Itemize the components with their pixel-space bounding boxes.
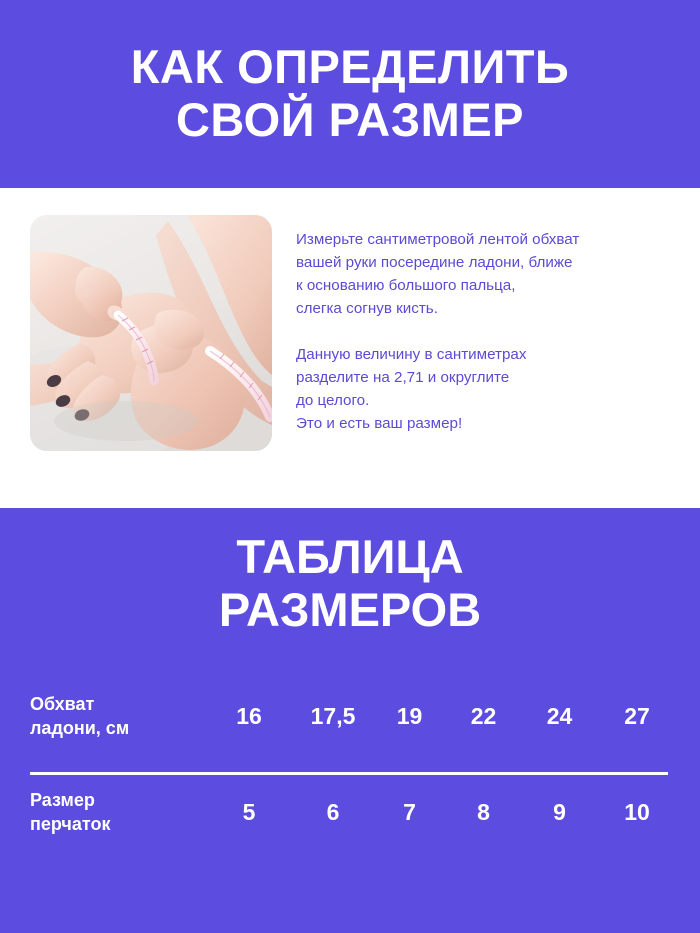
size-table-title: ТАБЛИЦА РАЗМЕРОВ: [0, 531, 700, 636]
cell-palm-0: 16: [205, 703, 293, 730]
cell-palm-5: 27: [598, 703, 676, 730]
table-row: Размер перчаток 5 6 7 8 9 10: [0, 764, 700, 860]
size-guide-page: КАК ОПРЕДЕЛИТЬ СВОЙ РАЗМЕР: [0, 0, 700, 933]
cell-glove-2: 7: [373, 799, 446, 826]
table-row: Обхват ладони, см 16 17,5 19 22 24 27: [0, 668, 700, 764]
instructions-text: Измерьте сантиметровой лентой обхват ваш…: [296, 228, 676, 435]
size-table-section: ТАБЛИЦА РАЗМЕРОВ Обхват ладони, см 16 17…: [0, 508, 700, 933]
cell-glove-0: 5: [205, 799, 293, 826]
cell-palm-2: 19: [373, 703, 446, 730]
cell-glove-4: 9: [521, 799, 598, 826]
cell-palm-1: 17,5: [293, 703, 373, 730]
cell-palm-4: 24: [521, 703, 598, 730]
page-title: КАК ОПРЕДЕЛИТЬ СВОЙ РАЗМЕР: [111, 41, 590, 146]
row-values-palm-circumference: 16 17,5 19 22 24 27: [205, 703, 700, 730]
cell-glove-3: 8: [446, 799, 521, 826]
header-band: КАК ОПРЕДЕЛИТЬ СВОЙ РАЗМЕР: [0, 0, 700, 188]
instructions-paragraph-1: Измерьте сантиметровой лентой обхват ваш…: [296, 228, 676, 320]
row-label-palm-circumference: Обхват ладони, см: [0, 692, 205, 740]
cell-glove-5: 10: [598, 799, 676, 826]
instructions-section: Измерьте сантиметровой лентой обхват ваш…: [0, 188, 700, 508]
row-values-glove-size: 5 6 7 8 9 10: [205, 799, 700, 826]
measuring-hand-photo: [30, 215, 272, 451]
instructions-paragraph-2: Данную величину в сантиметрах разделите …: [296, 343, 676, 435]
cell-glove-1: 6: [293, 799, 373, 826]
size-table: Обхват ладони, см 16 17,5 19 22 24 27 Ра…: [0, 668, 700, 860]
cell-palm-3: 22: [446, 703, 521, 730]
row-label-glove-size: Размер перчаток: [0, 788, 205, 836]
